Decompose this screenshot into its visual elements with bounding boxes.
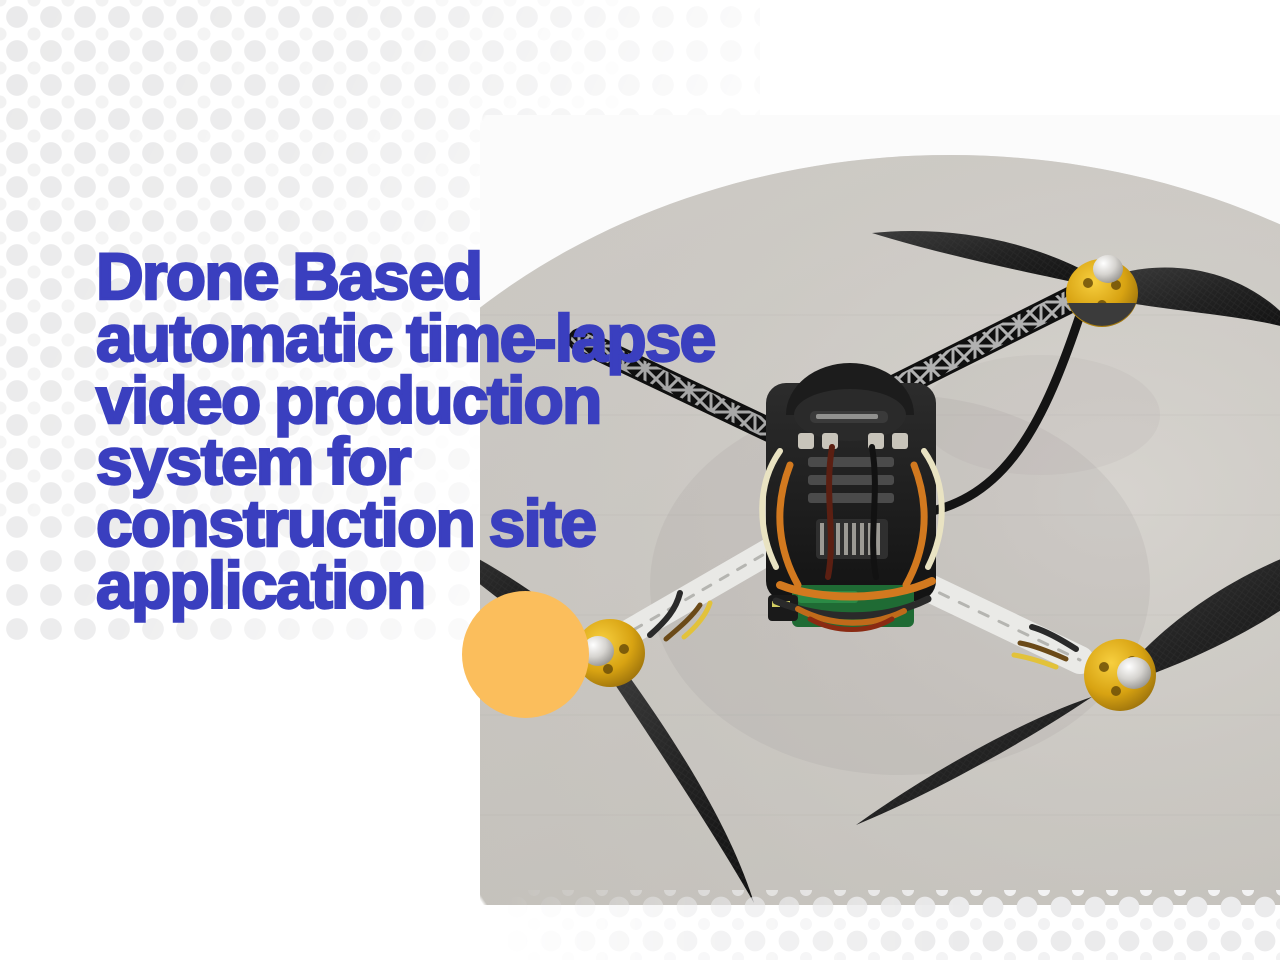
title-line-1: Drone Based bbox=[96, 246, 1026, 308]
title-line-5: construction site bbox=[96, 493, 1026, 555]
page-title: Drone Based automatic time-lapse video p… bbox=[96, 246, 1026, 616]
title-line-6: application bbox=[96, 555, 1026, 617]
poster-canvas: Drone Based automatic time-lapse video p… bbox=[0, 0, 1280, 960]
title-line-3: video production bbox=[96, 370, 1026, 432]
title-line-4: system for bbox=[96, 431, 1026, 493]
title-line-2: automatic time-lapse bbox=[96, 308, 1026, 370]
